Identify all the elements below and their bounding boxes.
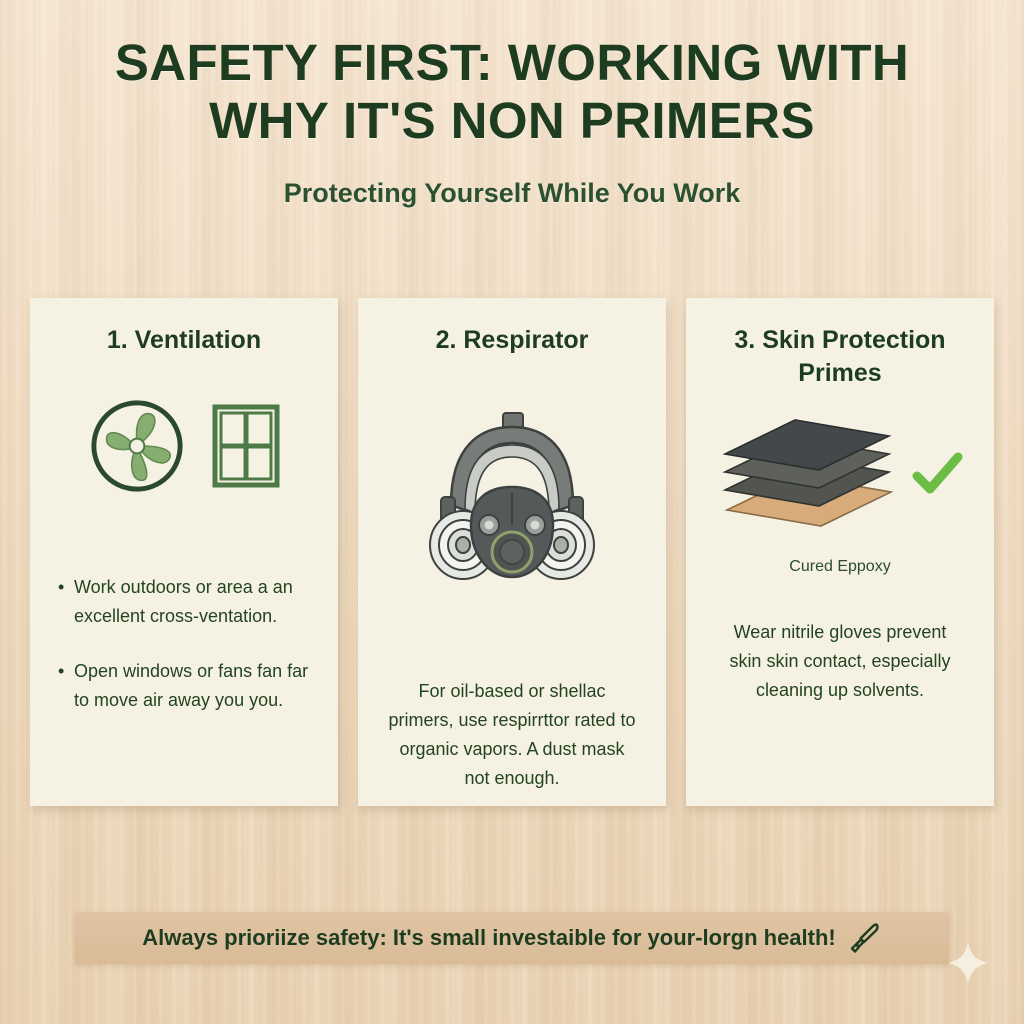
skin-protection-icon-group [704, 414, 976, 534]
bullet-marker: • [58, 573, 74, 631]
poster-header: SAFETY FIRST: WORKING WITH WHY IT'S NON … [0, 0, 1024, 209]
card-body-text: Wear nitrile gloves prevent skin skin co… [704, 618, 976, 705]
bullet-text: Open windows or fans fan far to move air… [74, 657, 310, 715]
footer-banner: Always prioriize safety: It's small inve… [75, 912, 949, 964]
card-row: 1. Ventilation [30, 298, 994, 806]
footer-text: Always prioriize safety: It's small inve… [142, 925, 836, 951]
card-skin-protection: 3. Skin Protection Primes [686, 298, 994, 806]
page-subtitle: Protecting Yourself While You Work [0, 178, 1024, 209]
bullet-text: Work outdoors or area a an excellent cro… [74, 573, 310, 631]
card-title: 1. Ventilation [107, 324, 261, 357]
card-title: 3. Skin Protection Primes [704, 324, 976, 390]
check-icon [909, 446, 965, 502]
window-icon [212, 404, 280, 488]
title-line-1: SAFETY FIRST: WORKING WITH [115, 34, 909, 91]
page-title: SAFETY FIRST: WORKING WITH WHY IT'S NON … [0, 34, 1024, 150]
layer-caption: Cured Eppoxy [789, 558, 890, 576]
card-ventilation: 1. Ventilation [30, 298, 338, 806]
ventilation-icon-group [48, 397, 320, 495]
card-respirator: 2. Respirator [358, 298, 666, 806]
respirator-icon-group [376, 409, 648, 589]
respirator-mask-icon [407, 409, 617, 589]
title-line-2: WHY IT'S NON PRIMERS [0, 92, 1024, 150]
list-item: • Open windows or fans fan far to move a… [58, 657, 310, 715]
list-item: • Work outdoors or area a an excellent c… [58, 573, 310, 631]
card-body-text: For oil-based or shellac primers, use re… [376, 677, 648, 793]
bullet-marker: • [58, 657, 74, 715]
infographic-poster: SAFETY FIRST: WORKING WITH WHY IT'S NON … [0, 0, 1024, 1024]
card-title: 2. Respirator [436, 324, 589, 357]
paintbrush-icon [848, 921, 882, 955]
sparkle-icon [945, 940, 991, 986]
fan-icon [88, 397, 186, 495]
ventilation-bullet-list: • Work outdoors or area a an excellent c… [48, 573, 320, 715]
layer-stack-icon [715, 414, 905, 534]
